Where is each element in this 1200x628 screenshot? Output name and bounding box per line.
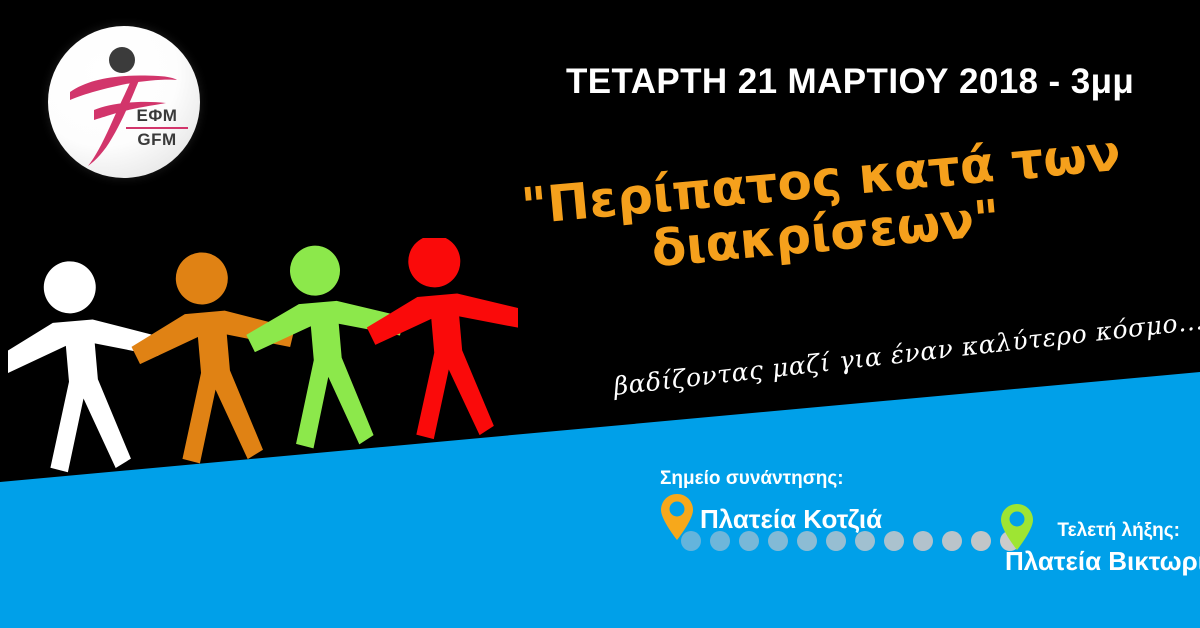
route-dot xyxy=(913,531,933,551)
route-dot xyxy=(971,531,991,551)
figure-green xyxy=(239,238,415,453)
map-pin-icon-start xyxy=(660,493,694,546)
meeting-point-label: Σημείο συνάντησης: xyxy=(660,468,882,490)
figure-white xyxy=(8,254,173,477)
event-date-time: ΤΕΤΑΡΤΗ 21 ΜΑΡΤΙΟΥ 2018 - 3μμ xyxy=(566,62,1134,102)
page-title: "Περίπατος κατά των διακρίσεων" xyxy=(455,120,1192,294)
logo-latin-abbr: GFM xyxy=(126,131,188,148)
route-dot xyxy=(884,531,904,551)
figure-orange xyxy=(124,245,306,468)
meeting-point-block: Σημείο συνάντησης: Πλατεία Κοτζιά xyxy=(660,468,882,546)
logo-mark-stroke xyxy=(70,76,177,100)
route-dot xyxy=(942,531,962,551)
logo-head-dot xyxy=(109,47,135,73)
end-point-block: Τελετή λήξης: Πλατεία Βικτωρίας xyxy=(1005,520,1180,577)
poster-canvas: ΕΦΜ GFM ΤΕΤΑΡΤΗ 21 ΜΑΡΤΙΟΥ 2018 - 3μμ "Π… xyxy=(0,0,1200,628)
logo-greek-abbr: ΕΦΜ xyxy=(126,107,188,126)
meeting-point-place: Πλατεία Κοτζιά xyxy=(700,504,882,535)
logo-divider-rule xyxy=(126,127,188,129)
people-holding-hands-illustration xyxy=(8,238,518,483)
end-point-label: Τελετή λήξης: xyxy=(1005,520,1180,542)
gfm-logo-badge[interactable]: ΕΦΜ GFM xyxy=(48,26,200,178)
end-point-place: Πλατεία Βικτωρίας xyxy=(1005,546,1180,577)
logo-abbreviations: ΕΦΜ GFM xyxy=(126,107,188,148)
